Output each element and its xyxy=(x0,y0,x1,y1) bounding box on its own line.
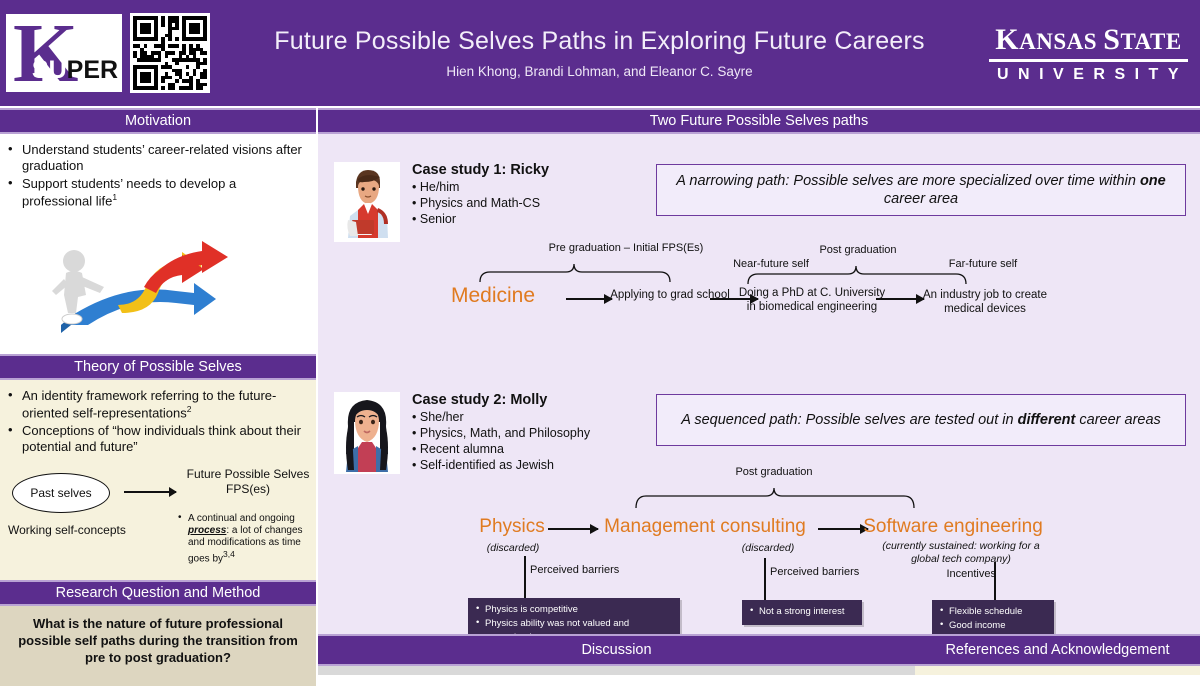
list-item: Physics, Math, and Philosophy xyxy=(412,425,590,441)
case-study-2-title: Case study 2: Molly xyxy=(412,392,590,408)
callout-narrowing-path: A narrowing path: Possible selves are mo… xyxy=(656,164,1186,216)
citation-superscript: 2 xyxy=(187,404,192,414)
case-study-1-title: Case study 1: Ricky xyxy=(412,162,549,178)
references-panel xyxy=(915,666,1200,675)
fps-line2: FPS(es) xyxy=(226,482,270,496)
label-near-future-self: Near-future self xyxy=(706,258,836,270)
ksu-ansas: ANSAS xyxy=(1019,29,1103,54)
node-management-consulting: Management consulting xyxy=(580,516,830,538)
case-study-1-detail-list: He/him Physics and Math-CS Senior xyxy=(412,179,549,227)
list-item: Conceptions of “how individuals think ab… xyxy=(6,423,308,455)
left-sidebar: Motivation Understand students’ career-r… xyxy=(0,108,316,686)
list-item: She/her xyxy=(412,409,590,425)
ksuper-per-text: PER xyxy=(67,56,118,84)
avatar-ricky xyxy=(334,162,400,242)
case-study-2-flow-diagram: Post graduation Physics (discarded) Mana… xyxy=(318,470,1200,638)
barriers-box-consulting: Not a strong interest xyxy=(742,600,862,625)
citation-superscript: 3,4 xyxy=(223,549,235,559)
arrow-right-icon xyxy=(566,298,612,300)
left-panel-bottom-filler xyxy=(0,668,316,675)
career-paths-arrows-illustration xyxy=(6,225,306,335)
section-header-two-paths: Two Future Possible Selves paths xyxy=(318,108,1200,134)
theory-panel: An identity framework referring to the f… xyxy=(0,380,316,580)
node-software-engineering: Software engineering xyxy=(848,516,1058,538)
callout-1-bold: one xyxy=(1140,173,1166,189)
label-perceived-barriers-2: Perceived barriers xyxy=(770,566,890,578)
node-physics-status: (discarded) xyxy=(448,542,578,554)
case-study-2-info: Case study 2: Molly She/her Physics, Mat… xyxy=(412,392,590,474)
ksuper-logo: K SUPER xyxy=(6,14,122,92)
callout-2-post: career areas xyxy=(1075,412,1160,428)
fps-sub-note: A continual and ongoing process: a lot o… xyxy=(178,513,320,566)
list-item: A continual and ongoing process: a lot o… xyxy=(178,513,320,566)
node-phd-biomedical: Doing a PhD at C. University in biomedic… xyxy=(738,286,886,315)
past-selves-node: Past selves xyxy=(12,473,110,513)
list-item: Good income xyxy=(940,619,1046,633)
list-item: Physics is competitive xyxy=(476,603,672,617)
main-content-column: Two Future Possible Selves paths xyxy=(318,108,1200,638)
connector-line xyxy=(524,556,526,602)
arrow-right-icon xyxy=(124,491,176,493)
list-item: Physics and Math-CS xyxy=(412,195,549,211)
list-item: Flexible schedule xyxy=(940,605,1046,619)
callout-1-pre: A narrowing path: Possible selves are mo… xyxy=(676,173,1140,189)
label-incentives: Incentives xyxy=(926,568,996,580)
section-header-motivation: Motivation xyxy=(0,108,316,134)
kansas-state-university-logo: KANSAS STATE UNIVERSITY xyxy=(989,23,1188,84)
bottom-panel-bodies xyxy=(318,666,1200,675)
case-study-1-flow-diagram: Pre graduation – Initial FPS(Es) Post gr… xyxy=(318,246,1200,356)
case-study-1-info: Case study 1: Ricky He/him Physics and M… xyxy=(412,162,549,242)
callout-1-post: career area xyxy=(884,191,958,207)
ksu-s: S xyxy=(1103,23,1120,56)
qr-code[interactable] xyxy=(130,13,210,93)
ksuper-su-text: SU xyxy=(32,56,67,84)
list-item: An identity framework referring to the f… xyxy=(6,388,308,421)
motivation-bullet-2-text: Support students’ needs to develop a pro… xyxy=(22,176,236,208)
ksuper-wordmark: SUPER xyxy=(32,56,118,85)
ksu-wordmark-line2: UNIVERSITY xyxy=(989,66,1188,84)
callout-2-bold: different xyxy=(1018,412,1076,428)
callout-sequenced-path: A sequenced path: Possible selves are te… xyxy=(656,394,1186,446)
list-item: He/him xyxy=(412,179,549,195)
motivation-panel: Understand students’ career-related visi… xyxy=(0,134,316,354)
ksu-k: K xyxy=(995,23,1019,56)
section-header-discussion: Discussion xyxy=(318,634,915,666)
page-title: Future Possible Selves Paths in Explorin… xyxy=(220,27,979,56)
label-pre-graduation: Pre graduation – Initial FPS(Es) xyxy=(516,242,736,254)
fps-note-pre: A continual and ongoing xyxy=(188,513,295,524)
possible-selves-diagram: Past selves Future Possible Selves FPS(e… xyxy=(6,469,308,579)
discussion-panel xyxy=(318,666,915,675)
avatar-molly xyxy=(334,392,400,474)
working-self-concepts-label: Working self-concepts xyxy=(8,523,126,537)
node-medicine: Medicine xyxy=(428,284,558,308)
node-applying-grad-school: Applying to grad school xyxy=(608,288,732,302)
label-post-graduation: Post graduation xyxy=(788,244,928,256)
list-item: Recent alumna xyxy=(412,441,590,457)
theory-bullet-list: An identity framework referring to the f… xyxy=(6,388,308,455)
poster-header: K SUPER Future Possible Selves Paths in … xyxy=(0,0,1200,106)
label-perceived-barriers-1: Perceived barriers xyxy=(530,564,650,576)
connector-line xyxy=(764,558,766,602)
section-header-theory: Theory of Possible Selves xyxy=(0,354,316,380)
list-item: Support students’ needs to develop a pro… xyxy=(6,176,306,209)
research-question-text: What is the nature of future professiona… xyxy=(14,616,302,667)
motivation-bullet-1-text: Understand students’ career-related visi… xyxy=(22,142,302,173)
theory-bullet-2-text: Conceptions of “how individuals think ab… xyxy=(22,423,301,454)
bottom-sections: Discussion References and Acknowledgemen… xyxy=(318,634,1200,675)
section-header-references: References and Acknowledgement xyxy=(915,634,1200,666)
citation-superscript: 1 xyxy=(112,192,117,202)
case-study-1-header: Case study 1: Ricky He/him Physics and M… xyxy=(334,162,549,242)
callout-2-pre: A sequenced path: Possible selves are te… xyxy=(681,412,1017,428)
barriers-list-2: Not a strong interest xyxy=(750,605,854,619)
fps-note-emphasis: process xyxy=(188,525,226,536)
label-far-future-self: Far-future self xyxy=(918,258,1048,270)
node-software-engineering-status: (currently sustained: working for a glob… xyxy=(873,540,1049,566)
node-management-consulting-status: (discarded) xyxy=(708,542,828,554)
list-item: Not a strong interest xyxy=(750,605,854,619)
case-study-2-header: Case study 2: Molly She/her Physics, Mat… xyxy=(334,392,590,474)
title-block: Future Possible Selves Paths in Explorin… xyxy=(210,27,989,79)
author-list: Hien Khong, Brandi Lohman, and Eleanor C… xyxy=(220,64,979,79)
list-item: Understand students’ career-related visi… xyxy=(6,142,306,174)
label-post-graduation-2: Post graduation xyxy=(714,466,834,478)
future-possible-selves-node: Future Possible Selves FPS(es) xyxy=(178,467,318,497)
ksu-wordmark-line1: KANSAS STATE xyxy=(989,23,1188,62)
theory-bullet-1-text: An identity framework referring to the f… xyxy=(22,388,276,420)
motivation-bullet-list: Understand students’ career-related visi… xyxy=(6,142,306,209)
ksu-tate: TATE xyxy=(1120,29,1181,54)
fps-line1: Future Possible Selves xyxy=(187,467,310,481)
node-physics: Physics xyxy=(442,516,582,538)
section-header-research-question: Research Question and Method xyxy=(0,580,316,606)
two-paths-panel: Case study 1: Ricky He/him Physics and M… xyxy=(318,134,1200,638)
case-study-2-detail-list: She/her Physics, Math, and Philosophy Re… xyxy=(412,409,590,473)
list-item: Senior xyxy=(412,211,549,227)
node-industry-job-medical-devices: An industry job to create medical device… xyxy=(910,288,1060,317)
